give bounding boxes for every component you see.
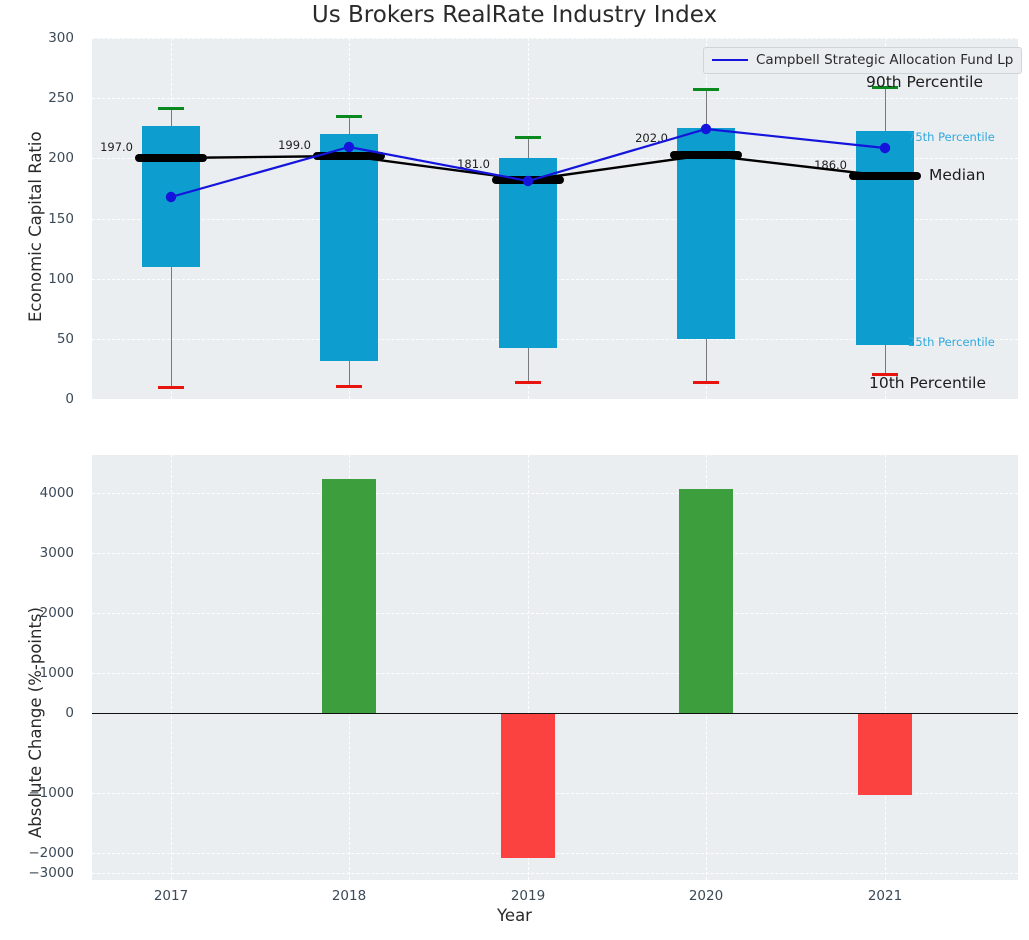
- median-label-2019: 181.0: [457, 157, 490, 171]
- median-bar-2019: [492, 176, 564, 184]
- p10-cap-2020: [693, 381, 719, 384]
- gridline-change--3000: [92, 873, 1018, 874]
- xtick-2018: 2018: [332, 888, 366, 904]
- p90-cap-2020: [693, 88, 719, 91]
- p90-cap-2018: [336, 115, 362, 118]
- median-bar-2021: [849, 172, 921, 180]
- median-label-2017: 197.0: [100, 140, 133, 154]
- p90-cap-2019: [515, 136, 541, 139]
- panel-absolute-change: [92, 455, 1018, 880]
- xlabel-year: Year: [0, 906, 1029, 925]
- change-bar-2021: [858, 713, 912, 795]
- box-2021: [856, 131, 914, 345]
- gridline-change-3000: [92, 553, 1018, 554]
- box-2018: [320, 134, 378, 361]
- annotation-75th-percentile: 75th Percentile: [908, 130, 995, 144]
- xtick-2017: 2017: [154, 888, 188, 904]
- annotation-90th-percentile: 90th Percentile: [866, 73, 983, 91]
- chart-title: Us Brokers RealRate Industry Index: [0, 2, 1029, 28]
- ylabel-economic-capital-ratio: Economic Capital Ratio: [26, 131, 45, 322]
- box-2020: [677, 128, 735, 339]
- gridline-change--2000: [92, 853, 1018, 854]
- median-label-2018: 199.0: [278, 138, 311, 152]
- gridline-change-1000: [92, 673, 1018, 674]
- median-bar-2017: [135, 154, 207, 162]
- box-2019: [499, 158, 557, 348]
- zero-line: [92, 713, 1018, 714]
- gridline-y-0: [92, 399, 1018, 400]
- median-bar-2018: [313, 152, 385, 160]
- xtick-2021: 2021: [868, 888, 902, 904]
- p90-cap-2017: [158, 107, 184, 110]
- ylabel-absolute-change: Absolute Change (%-points): [26, 607, 45, 838]
- gridline-y-250: [92, 98, 1018, 99]
- gridline-change-x-2017: [171, 455, 172, 880]
- legend[interactable]: Campbell Strategic Allocation Fund Lp: [703, 47, 1022, 74]
- gridline-y-300: [92, 38, 1018, 39]
- xtick-2019: 2019: [511, 888, 545, 904]
- gridline-change-x-2021: [885, 455, 886, 880]
- xtick-2020: 2020: [689, 888, 723, 904]
- p10-cap-2017: [158, 386, 184, 389]
- annotation-25th-percentile: 25th Percentile: [908, 335, 995, 349]
- legend-label-campbell: Campbell Strategic Allocation Fund Lp: [756, 52, 1013, 68]
- median-label-2020: 202.0: [635, 131, 668, 145]
- change-bar-2019: [501, 713, 555, 858]
- p10-cap-2018: [336, 385, 362, 388]
- change-bar-2018: [322, 479, 376, 713]
- annotation-median: Median: [929, 166, 985, 184]
- annotation-10th-percentile: 10th Percentile: [869, 374, 986, 392]
- gridline-change-4000: [92, 493, 1018, 494]
- legend-line-swatch: [712, 59, 748, 61]
- gridline-change-2000: [92, 613, 1018, 614]
- median-label-2021: 186.0: [814, 158, 847, 172]
- p10-cap-2019: [515, 381, 541, 384]
- change-bar-2020: [679, 489, 733, 713]
- median-bar-2020: [670, 151, 742, 159]
- chart-figure: Us Brokers RealRate Industry Index 300 2…: [0, 0, 1029, 940]
